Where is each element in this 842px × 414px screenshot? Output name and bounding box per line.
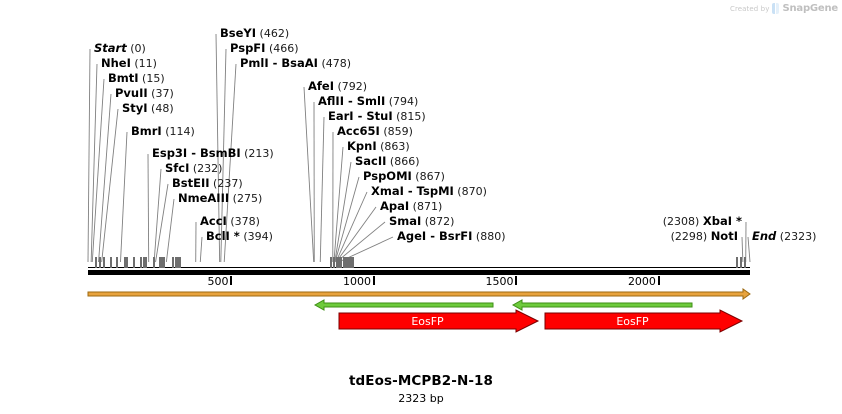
restriction-site-label[interactable]: PspFI (466) xyxy=(230,42,299,55)
ruler-tick-label: 1500 xyxy=(485,275,515,288)
restriction-site-tick[interactable] xyxy=(116,257,118,268)
site-position: (15) xyxy=(139,72,165,85)
site-position: (863) xyxy=(377,140,410,153)
site-position: (0) xyxy=(127,42,146,55)
restriction-site-tick[interactable] xyxy=(95,257,97,268)
enzyme-name: PvuII xyxy=(115,86,148,100)
site-position: (866) xyxy=(386,155,419,168)
restriction-site-label[interactable]: AfeI (792) xyxy=(308,80,367,93)
enzyme-name: ApaI xyxy=(380,199,409,213)
enzyme-name: Acc65I xyxy=(337,124,380,138)
restriction-site-tick[interactable] xyxy=(352,257,354,268)
site-position: (237) xyxy=(210,177,243,190)
ruler-tick-mark xyxy=(515,276,517,285)
enzyme-name: NmeAIII xyxy=(178,191,229,205)
site-position: (2308) xyxy=(663,215,703,228)
sequence-length-label: 2323 bp xyxy=(0,392,842,405)
site-position: (2323) xyxy=(776,230,816,243)
site-position: (867) xyxy=(412,170,445,183)
site-position: (792) xyxy=(334,80,367,93)
site-position: (794) xyxy=(385,95,418,108)
restriction-site-label[interactable]: KpnI (863) xyxy=(347,140,410,153)
title-block: tdEos-MCPB2-N-18 2323 bp xyxy=(0,373,842,405)
restriction-site-tick[interactable] xyxy=(145,257,147,268)
restriction-site-tick[interactable] xyxy=(330,257,332,268)
site-position: (114) xyxy=(162,125,195,138)
restriction-site-label[interactable]: PvuII (37) xyxy=(115,87,174,100)
restriction-site-label[interactable]: End (2323) xyxy=(752,230,816,243)
restriction-site-tick[interactable] xyxy=(340,257,342,268)
enzyme-name: XmaI - TspMI xyxy=(371,184,454,198)
restriction-site-label[interactable]: XmaI - TspMI (870) xyxy=(371,185,487,198)
enzyme-name: BmrI xyxy=(131,124,162,138)
site-position: (48) xyxy=(148,102,174,115)
enzyme-name: NheI xyxy=(101,56,131,70)
ruler-tick-mark xyxy=(230,276,232,285)
restriction-site-tick[interactable] xyxy=(153,257,155,268)
cds-label: EosFP xyxy=(411,315,444,328)
enzyme-name: AflII - SmlI xyxy=(318,94,385,108)
site-position: (478) xyxy=(318,57,351,70)
restriction-site-tick[interactable] xyxy=(163,257,165,268)
site-position: (37) xyxy=(148,87,174,100)
restriction-site-label[interactable]: BmrI (114) xyxy=(131,125,195,138)
site-position: (2298) xyxy=(671,230,711,243)
ruler-tick-mark xyxy=(373,276,375,285)
enzyme-name: Start xyxy=(94,41,127,55)
enzyme-name: NotI xyxy=(711,229,738,243)
green-feature-arrow-2[interactable] xyxy=(513,300,692,310)
restriction-site-tick[interactable] xyxy=(744,257,746,268)
restriction-site-tick[interactable] xyxy=(172,257,174,268)
restriction-site-label[interactable]: (2308) XbaI * xyxy=(0,215,742,228)
site-position: (462) xyxy=(256,27,289,40)
restriction-site-tick[interactable] xyxy=(99,257,101,268)
full-length-arrow[interactable] xyxy=(88,289,750,299)
site-position: (213) xyxy=(241,147,274,160)
restriction-site-label[interactable]: Esp3I - BsmBI (213) xyxy=(152,147,274,160)
enzyme-name: AfeI xyxy=(308,79,334,93)
restriction-site-tick[interactable] xyxy=(333,257,335,268)
restriction-site-label[interactable]: (2298) NotI xyxy=(0,230,738,243)
enzyme-name: SfcI xyxy=(165,161,189,175)
restriction-site-label[interactable]: BstEII (237) xyxy=(172,177,243,190)
ruler-tick-label: 1000 xyxy=(343,275,373,288)
restriction-site-label[interactable]: SfcI (232) xyxy=(165,162,222,175)
ruler-tick-label: 2000 xyxy=(628,275,658,288)
snapgene-sequence-map: Created by SnapGene Start (0)NheI (11)Bm… xyxy=(0,0,842,414)
enzyme-name: End xyxy=(752,229,776,243)
ruler-tick-label: 500 xyxy=(207,275,230,288)
enzyme-name: SacII xyxy=(355,154,386,168)
enzyme-name: PspFI xyxy=(230,41,265,55)
restriction-site-tick[interactable] xyxy=(740,257,742,268)
site-position: (870) xyxy=(454,185,487,198)
restriction-site-label[interactable]: NheI (11) xyxy=(101,57,157,70)
enzyme-name: BseYI xyxy=(220,26,256,40)
restriction-site-label[interactable]: SacII (866) xyxy=(355,155,420,168)
restriction-site-label[interactable]: PspOMI (867) xyxy=(363,170,445,183)
restriction-site-label[interactable]: Start (0) xyxy=(94,42,146,55)
restriction-site-label[interactable]: NmeAIII (275) xyxy=(178,192,262,205)
green-feature-arrow-1[interactable] xyxy=(315,300,493,310)
enzyme-name: EarI - StuI xyxy=(328,109,393,123)
restriction-site-tick[interactable] xyxy=(103,257,105,268)
restriction-site-label[interactable]: EarI - StuI (815) xyxy=(328,110,426,123)
restriction-site-tick[interactable] xyxy=(736,257,738,268)
page-title: tdEos-MCPB2-N-18 xyxy=(0,373,842,389)
sequence-line-thin xyxy=(88,267,750,268)
restriction-site-tick[interactable] xyxy=(140,257,142,268)
site-position: (11) xyxy=(131,57,157,70)
restriction-site-label[interactable]: BseYI (462) xyxy=(220,27,289,40)
restriction-site-tick[interactable] xyxy=(133,257,135,268)
enzyme-name: PmlI - BsaAI xyxy=(240,56,318,70)
enzyme-name: BmtI xyxy=(108,71,139,85)
restriction-site-tick[interactable] xyxy=(126,257,128,268)
site-position: (859) xyxy=(380,125,413,138)
restriction-site-label[interactable]: BmtI (15) xyxy=(108,72,165,85)
enzyme-name: KpnI xyxy=(347,139,377,153)
enzyme-name: Esp3I - BsmBI xyxy=(152,146,241,160)
feature-arrows: EosFPEosFP xyxy=(0,288,842,348)
site-position: (466) xyxy=(265,42,298,55)
enzyme-name: BstEII xyxy=(172,176,210,190)
site-position: (871) xyxy=(409,200,442,213)
site-position: (232) xyxy=(189,162,222,175)
restriction-site-label[interactable]: PmlI - BsaAI (478) xyxy=(240,57,351,70)
restriction-site-label[interactable]: AflII - SmlI (794) xyxy=(318,95,418,108)
enzyme-name: StyI xyxy=(122,101,148,115)
site-position: (815) xyxy=(393,110,426,123)
enzyme-name: PspOMI xyxy=(363,169,412,183)
restriction-site-label[interactable]: ApaI (871) xyxy=(380,200,442,213)
ruler-tick-mark xyxy=(658,276,660,285)
enzyme-name: XbaI * xyxy=(703,214,742,228)
restriction-site-tick[interactable] xyxy=(179,257,181,268)
site-position: (275) xyxy=(229,192,262,205)
restriction-site-label[interactable]: StyI (48) xyxy=(122,102,174,115)
cds-label: EosFP xyxy=(616,315,649,328)
restriction-site-tick[interactable] xyxy=(110,257,112,268)
restriction-site-labels: Start (0)NheI (11)BmtI (15)PvuII (37)Sty… xyxy=(0,0,842,262)
restriction-site-label[interactable]: Acc65I (859) xyxy=(337,125,413,138)
